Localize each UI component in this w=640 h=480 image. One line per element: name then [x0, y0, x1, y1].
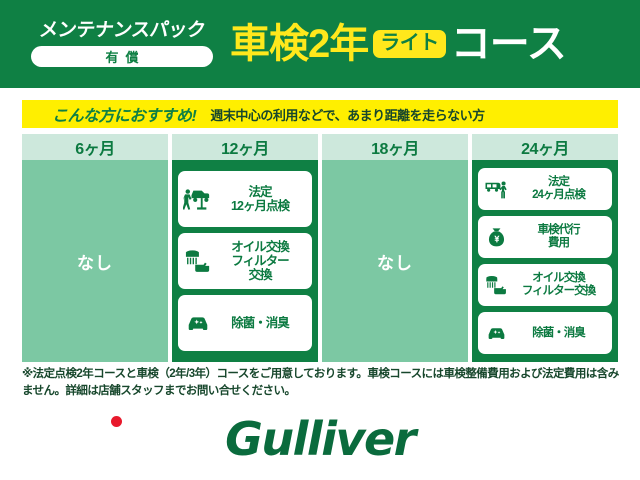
- service-card: オイル交換フィルター交換: [478, 264, 612, 306]
- maintenance-pack-block: メンテナンスパック 有償: [22, 21, 222, 68]
- oil-can-filter-icon: [183, 248, 213, 274]
- gulliver-wordmark: Gulliver: [225, 412, 415, 466]
- column-body-6months: なし: [22, 160, 168, 362]
- service-card: 車検代行費用: [478, 216, 612, 258]
- logo-dot-icon: [111, 416, 122, 427]
- column-body-12months: 法定12ヶ月点検オイル交換フィルター交換除菌・消臭: [172, 160, 318, 362]
- recommend-banner: こんな方におすすめ! 週末中心の利用などで、あまり距離を走らない方: [22, 100, 618, 128]
- maintenance-schedule-table: 6ヶ月 12ヶ月 18ヶ月 24ヶ月 なし 法定12ヶ月点検オイル交換フィルター…: [22, 134, 618, 362]
- service-card-label: 除菌・消臭: [213, 316, 307, 330]
- maintenance-pack-title: メンテナンスパック: [38, 21, 207, 42]
- none-label-18months: なし: [377, 249, 413, 274]
- car-inspector-icon: [483, 178, 510, 200]
- light-badge: ライト: [373, 30, 446, 58]
- course-label: コース: [451, 24, 566, 64]
- recommend-body: 週末中心の利用などで、あまり距離を走らない方: [210, 105, 484, 124]
- header-bar: メンテナンスパック 有償 車検2年 ライト コース: [0, 0, 640, 88]
- column-body-24months: 法定24ヶ月点検車検代行費用オイル交換フィルター交換除菌・消臭: [472, 160, 618, 362]
- paid-badge: 有償: [31, 46, 213, 67]
- column-header-18months: 18ヶ月: [322, 134, 468, 160]
- footnote-text: ※法定点検2年コースと車検（2年/3年）コースをご用意しております。車検コースに…: [22, 366, 620, 399]
- shaken-2year-title: 車検2年: [230, 24, 368, 64]
- service-card-label: 車検代行費用: [510, 224, 607, 250]
- course-title-block: 車検2年 ライト コース: [230, 24, 640, 64]
- advertisement-page: メンテナンスパック 有償 車検2年 ライト コース こんな方におすすめ! 週末中…: [0, 0, 640, 480]
- column-header-6months: 6ヶ月: [22, 134, 168, 160]
- column-header-24months: 24ヶ月: [472, 134, 618, 160]
- service-card: 法定24ヶ月点検: [478, 168, 612, 210]
- column-header-12months: 12ヶ月: [172, 134, 318, 160]
- oil-can-filter-icon: [483, 274, 510, 296]
- service-card-label: オイル交換フィルター交換: [510, 272, 607, 298]
- column-body-18months: なし: [322, 160, 468, 362]
- service-card: 除菌・消臭: [178, 295, 312, 351]
- service-card-label: 法定12ヶ月点検: [213, 185, 307, 213]
- service-card: 法定12ヶ月点検: [178, 171, 312, 227]
- car-sanitize-icon: [183, 310, 213, 336]
- service-card: オイル交換フィルター交換: [178, 233, 312, 289]
- brand-logo: Gulliver: [0, 412, 640, 466]
- service-card: 除菌・消臭: [478, 312, 612, 354]
- service-card-label: オイル交換フィルター交換: [213, 240, 307, 282]
- recommend-lead: こんな方におすすめ!: [52, 102, 196, 126]
- service-card-label: 法定24ヶ月点検: [510, 176, 607, 202]
- car-sanitize-icon: [483, 322, 510, 344]
- money-bag-yen-icon: [483, 226, 510, 248]
- car-lift-inspection-icon: [183, 186, 213, 212]
- service-card-label: 除菌・消臭: [510, 327, 607, 340]
- none-label-6months: なし: [77, 249, 113, 274]
